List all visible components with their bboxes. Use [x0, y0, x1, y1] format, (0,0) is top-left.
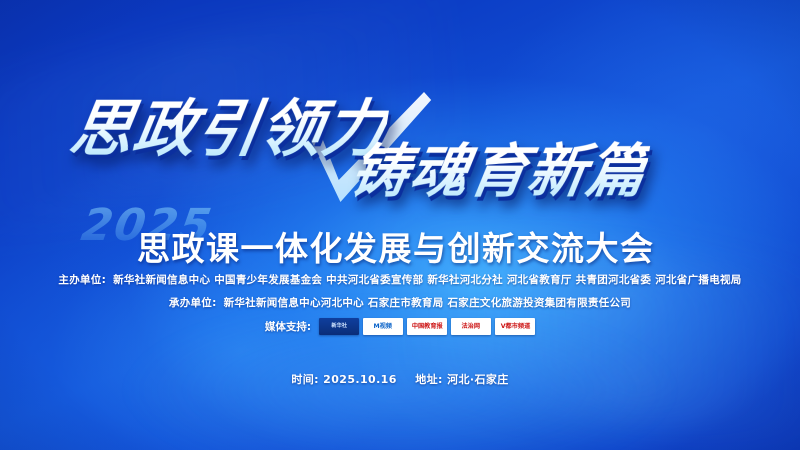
co-organizer-row: 承办单位: 新华社新闻信息中心河北中心 石家庄市教育局 石家庄文化旅游投资集团有…	[0, 295, 800, 310]
title-line-2: 铸魂育新篇	[345, 124, 653, 208]
city-channel-logo: V都市频道	[495, 318, 535, 335]
poster-subtitle: 思政课一体化发展与创新交流大会	[137, 222, 655, 270]
china-education-daily-logo: 中国教育报	[407, 318, 447, 335]
organizer-list: 新华社新闻信息中心 中国青少年发展基金会 中共河北省委宣传部 新华社河北分社 河…	[113, 274, 742, 286]
media-support-label: 媒体支持:	[265, 319, 311, 334]
fazhiwang-logo: 法治网	[451, 318, 491, 335]
xinhua-logo: 新华社	[319, 318, 359, 335]
time-value: 2025.10.16	[323, 373, 397, 386]
place-label: 地址:	[415, 373, 443, 386]
event-footer: 时间: 2025.10.16 地址: 河北·石家庄	[0, 371, 800, 387]
co-organizer-list: 新华社新闻信息中心河北中心 石家庄市教育局 石家庄文化旅游投资集团有限责任公司	[224, 297, 632, 309]
media-support-row: 媒体支持: 新华社 M视频 中国教育报 法治网 V都市频道	[0, 318, 800, 335]
poster-title: 思政引领力 铸魂育新篇	[0, 78, 800, 208]
title-line-1: 思政引领力	[65, 78, 394, 168]
event-poster: 思政引领力 铸魂育新篇 2025 思政课一体化发展与创新交流大会 主办单位: 新…	[0, 0, 800, 450]
organizer-row: 主办单位: 新华社新闻信息中心 中国青少年发展基金会 中共河北省委宣传部 新华社…	[0, 272, 800, 287]
credits-block: 主办单位: 新华社新闻信息中心 中国青少年发展基金会 中共河北省委宣传部 新华社…	[0, 272, 800, 335]
time-label: 时间:	[291, 373, 319, 386]
organizer-label: 主办单位:	[58, 274, 106, 286]
co-organizer-label: 承办单位:	[169, 297, 217, 309]
place-value: 河北·石家庄	[447, 373, 509, 386]
mangguo-logo: M视频	[363, 318, 403, 335]
